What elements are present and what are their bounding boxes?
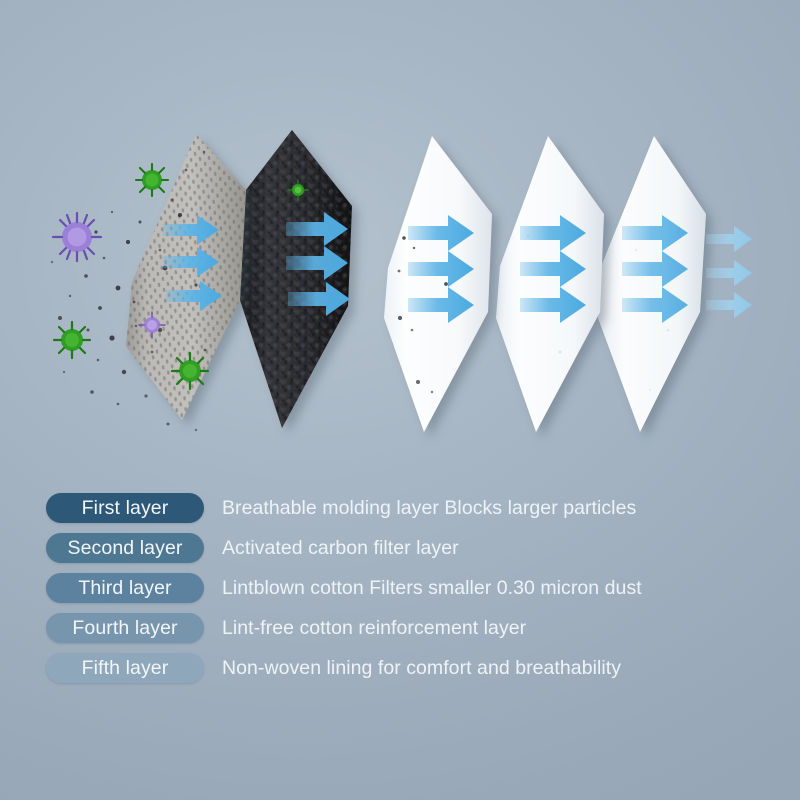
mask-layer-infographic: First layer Breathable molding layer Blo… xyxy=(0,0,800,800)
badge-fifth-layer: Fifth layer xyxy=(46,653,204,683)
legend-row-2: Second layer Activated carbon filter lay… xyxy=(0,528,800,568)
description-first-layer: Breathable molding layer Blocks larger p… xyxy=(222,497,800,520)
mask-layer-4-lint-free-cotton xyxy=(496,136,604,432)
flow-arrows-layer-1 xyxy=(163,215,222,311)
description-fifth-layer: Non-woven lining for comfort and breatha… xyxy=(222,657,800,680)
flow-arrows-layer-5 xyxy=(622,215,688,323)
virus-green-trapped xyxy=(387,342,394,349)
legend-row-1: First layer Breathable molding layer Blo… xyxy=(0,488,800,528)
badge-fourth-layer: Fourth layer xyxy=(46,613,204,643)
flow-arrows-layer-4 xyxy=(520,215,586,323)
virus-green-1 xyxy=(136,164,168,196)
badge-third-layer: Third layer xyxy=(46,573,204,603)
description-fourth-layer: Lint-free cotton reinforcement layer xyxy=(222,617,800,640)
description-third-layer: Lintblown cotton Filters smaller 0.30 mi… xyxy=(222,577,800,600)
badge-first-layer: First layer xyxy=(46,493,204,523)
badge-second-layer: Second layer xyxy=(46,533,204,563)
layer-legend-list: First layer Breathable molding layer Blo… xyxy=(0,488,800,688)
flow-arrows-layer-3 xyxy=(408,215,474,323)
legend-row-4: Fourth layer Lint-free cotton reinforcem… xyxy=(0,608,800,648)
layer-1-mesh-texture xyxy=(110,120,260,440)
exit-flow-arrows xyxy=(706,226,752,318)
mask-layer-5-non-woven xyxy=(598,136,706,432)
legend-row-5: Fifth layer Non-woven lining for comfort… xyxy=(0,648,800,688)
virus-green-3 xyxy=(172,353,208,389)
virus-green-2 xyxy=(54,322,90,358)
layer-2-texture xyxy=(230,120,375,447)
mask-cutaway-illustration xyxy=(0,0,800,470)
mask-layer-3-meltblown-cotton xyxy=(384,136,492,432)
flow-arrows-layer-2 xyxy=(286,212,350,316)
description-second-layer: Activated carbon filter layer xyxy=(222,537,800,560)
legend-row-3: Third layer Lintblown cotton Filters sma… xyxy=(0,568,800,608)
virus-purple-1 xyxy=(53,213,101,261)
